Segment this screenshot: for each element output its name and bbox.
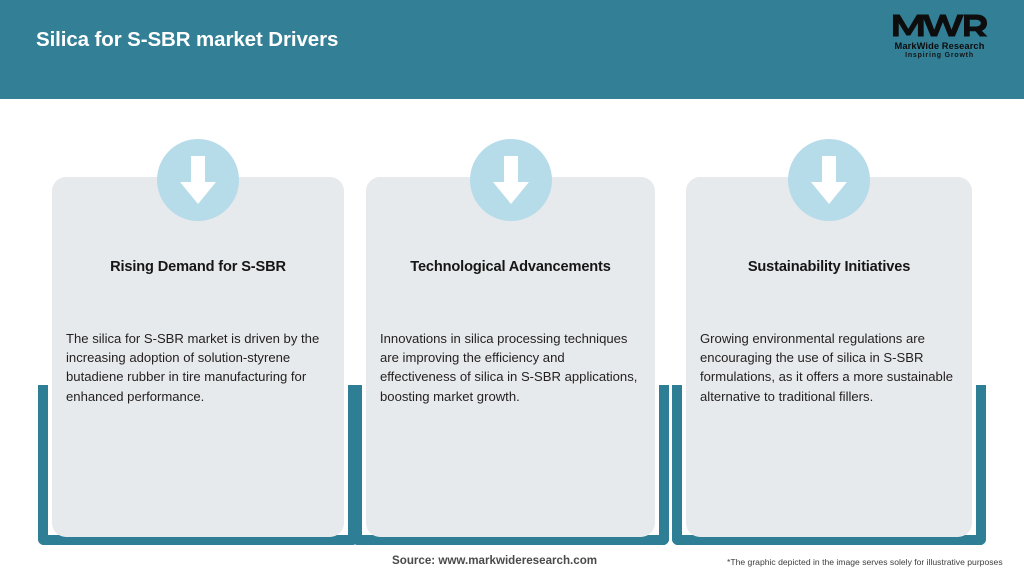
page-header: Silica for S-SBR market Drivers MarkWide… xyxy=(0,0,1024,99)
card-description: The silica for S-SBR market is driven by… xyxy=(66,329,332,406)
down-arrow-icon xyxy=(470,139,552,221)
drivers-card-group: Rising Demand for S-SBR The silica for S… xyxy=(0,99,1024,576)
source-label: Source: www.markwideresearch.com xyxy=(392,554,597,567)
card-description: Growing environmental regulations are en… xyxy=(700,329,960,406)
driver-card-3: Sustainability Initiatives Growing envir… xyxy=(672,99,986,576)
card-title: Sustainability Initiatives xyxy=(696,259,962,275)
logo-company-name: MarkWide Research xyxy=(877,41,1002,51)
driver-card-body-2: Technological Advancements Innovations i… xyxy=(366,177,655,537)
company-logo: MarkWide Research Inspiring Growth xyxy=(877,10,1002,68)
down-arrow-icon xyxy=(157,139,239,221)
driver-card-body-3: Sustainability Initiatives Growing envir… xyxy=(686,177,972,537)
driver-card-1: Rising Demand for S-SBR The silica for S… xyxy=(38,99,358,576)
logo-tagline: Inspiring Growth xyxy=(877,52,1002,59)
driver-card-2: Technological Advancements Innovations i… xyxy=(352,99,669,576)
card-title: Technological Advancements xyxy=(376,259,645,275)
card-description: Innovations in silica processing techniq… xyxy=(380,329,643,406)
page-title: Silica for S-SBR market Drivers xyxy=(36,28,338,52)
disclaimer-note: *The graphic depicted in the image serve… xyxy=(727,557,1003,567)
card-title: Rising Demand for S-SBR xyxy=(62,259,334,275)
down-arrow-icon xyxy=(788,139,870,221)
driver-card-body-1: Rising Demand for S-SBR The silica for S… xyxy=(52,177,344,537)
mwr-logo-icon xyxy=(892,10,988,40)
